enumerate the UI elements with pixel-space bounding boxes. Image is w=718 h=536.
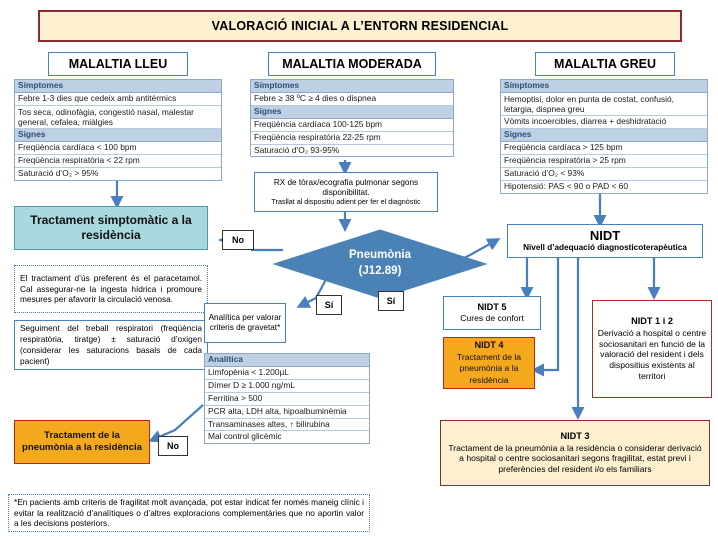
table-mild: Símptomes Febre 1-3 dies que cedeix amb … — [14, 79, 222, 181]
nidt3-title: NIDT 3 — [560, 431, 589, 443]
table-row: Febre 1-3 dies que cedeix amb antitèrmic… — [15, 93, 221, 106]
table-section-header: Signes — [251, 106, 453, 119]
column-header-moderate: MALALTIA MODERADA — [268, 52, 436, 76]
table-row: Freqüència respiratòria < 22 rpm — [15, 155, 221, 168]
nidt3-box: NIDT 3 Tractament de la pneumònia a la r… — [440, 420, 710, 486]
table-row: Mal control glicèmic — [205, 431, 369, 443]
nidt3-body: Tractament de la pneumònia a la residènc… — [446, 443, 704, 475]
page-title: VALORACIÓ INICIAL A L’ENTORN RESIDENCIAL — [38, 10, 682, 42]
nidt4-title: NIDT 4 — [474, 340, 503, 352]
nidt5-title: NIDT 5 — [477, 302, 506, 313]
table-section-header: Símptomes — [15, 80, 221, 93]
edge-label-yes-right: Sí — [378, 291, 404, 311]
table-row: Limfopènia < 1.200µL — [205, 367, 369, 380]
edge-label-no-left: No — [222, 230, 254, 250]
note-paracetamol: El tractament d’ús preferent és el parac… — [14, 265, 208, 313]
table-section-header: Signes — [15, 129, 221, 142]
footnote: *En pacients amb criteris de fragilitat … — [8, 494, 370, 532]
table-section-header: Símptomes — [501, 80, 707, 93]
table-row: Dímer D ≥ 1.000 ng/mL — [205, 380, 369, 393]
edge-analytics-to-treatment — [152, 405, 203, 440]
table-moderate: Símptomes Febre ≥ 38 ºC ≥ 4 dies o dispn… — [250, 79, 454, 157]
treatment-pneumonia-residence-box: Tractament de la pneumònia a la residènc… — [14, 420, 150, 464]
table-row: Freqüència cardíaca < 100 bpm — [15, 142, 221, 155]
table-section-header: Signes — [501, 129, 707, 142]
symptomatic-treatment-box: Tractament simptomàtic a la residència — [14, 206, 208, 250]
diamond-shape — [272, 228, 488, 300]
edge-label-no-bottom: No — [158, 436, 188, 456]
nidt5-body: Cures de confort — [460, 313, 524, 323]
table-severe: Símptomes Hemoptisi, dolor en punta de c… — [500, 79, 708, 194]
table-row: Vòmits incoercibles, diarrea + deshidrat… — [501, 116, 707, 129]
nidt5-box: NIDT 5 Cures de confort — [443, 296, 541, 330]
table-row: Freqüència cardíaca 100-125 bpm — [251, 119, 453, 132]
table-row: Febre ≥ 38 ºC ≥ 4 dies o dispnea — [251, 93, 453, 106]
column-header-severe: MALALTIA GREU — [535, 52, 675, 76]
rx-main-text: RX de tòrax/ecografia pulmonar segons di… — [258, 178, 434, 198]
rx-chest-box: RX de tòrax/ecografia pulmonar segons di… — [254, 172, 438, 212]
table-row: Freqüència respiratòria 22-25 rpm — [251, 132, 453, 145]
table-row: Freqüència cardíaca > 125 bpm — [501, 142, 707, 155]
table-row: Hemoptisi, dolor en punta de costat, con… — [501, 93, 707, 117]
column-header-mild: MALALTIA LLEU — [48, 52, 188, 76]
nidt-title: NIDT — [590, 229, 620, 243]
table-row: Freqüència respiratòria > 25 rpm — [501, 155, 707, 168]
flowchart-canvas: VALORACIÓ INICIAL A L’ENTORN RESIDENCIAL… — [0, 0, 718, 536]
analytics-criteria-box: Analítica per valorar criteris de gravet… — [204, 303, 286, 343]
table-row: Saturació d’O₂ > 95% — [15, 168, 221, 180]
table-row: Hipotensió: PAS < 90 o PAD < 60 — [501, 181, 707, 193]
nidt12-box: NIDT 1 i 2 Derivació a hospital o centre… — [592, 300, 712, 398]
rx-sub-text: Trasllat al dispositiu adient per fer el… — [271, 198, 420, 206]
nidt12-title: NIDT 1 i 2 — [631, 316, 673, 328]
table-analytics: Analítica Limfopènia < 1.200µL Dímer D ≥… — [204, 353, 370, 444]
table-section-header: Analítica — [205, 354, 369, 367]
table-row: Transaminases altes, ↑ bilirubina — [205, 419, 369, 432]
nidt4-box: NIDT 4 Tractament de la pneumònia a la r… — [443, 337, 535, 389]
table-row: Tos seca, odinofàgia, congestió nasal, m… — [15, 106, 221, 130]
table-row: Ferritina > 500 — [205, 393, 369, 406]
edge-label-yes-left: Sí — [316, 295, 342, 315]
nidt-box: NIDT Nivell d’adequació diagnosticoterap… — [507, 224, 703, 258]
table-row: PCR alta, LDH alta, hipoalbuminèmia — [205, 406, 369, 419]
nidt4-body: Tractament de la pneumònia a la residènc… — [448, 352, 530, 386]
note-respiratory-followup: Seguiment del treball respiratori (freqü… — [14, 320, 208, 370]
table-section-header: Símptomes — [251, 80, 453, 93]
nidt12-body: Derivació a hospital o centre sociosanit… — [597, 328, 707, 382]
table-row: Saturació d’O₂ 93-95% — [251, 145, 453, 157]
table-row: Saturació d’O₂ < 93% — [501, 168, 707, 181]
decision-pneumonia: Pneumònia (J12.89) — [272, 228, 488, 300]
nidt-subtitle: Nivell d’adequació diagnosticoterapèutic… — [523, 243, 687, 252]
